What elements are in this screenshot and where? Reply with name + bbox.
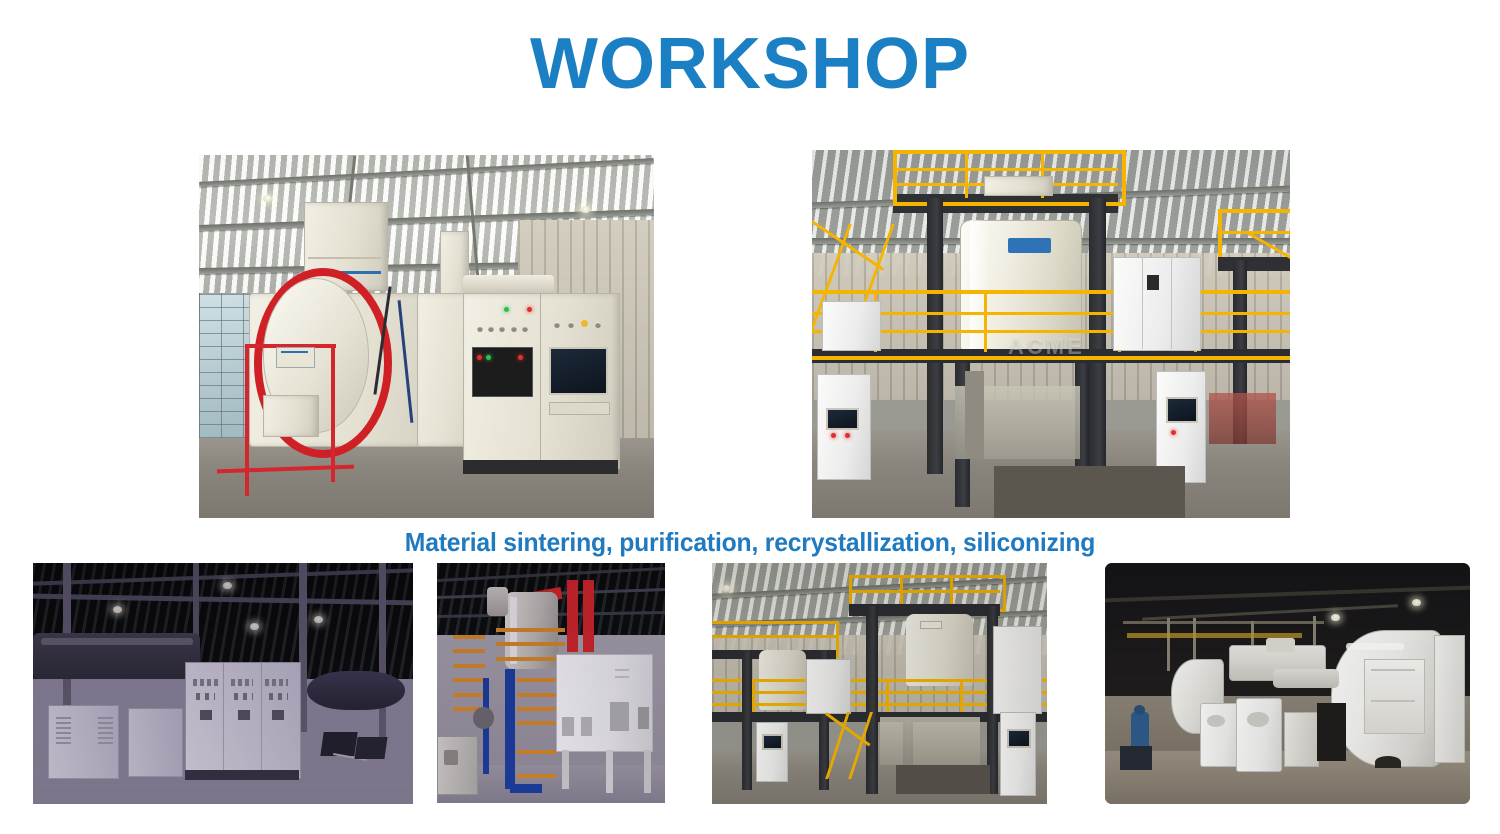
ceiling-lamp-icon: [263, 195, 272, 202]
scene-control-cabinet-hall: [33, 563, 413, 804]
photo-vertical-vacuum-furnace-platform: ACME: [812, 150, 1290, 518]
scene-twin-vertical-furnaces: [712, 563, 1047, 804]
scene-horizontal-furnace: [199, 155, 654, 518]
workshop-page: WORKSHOP: [0, 0, 1500, 834]
photo-large-white-vacuum-furnaces: [1105, 563, 1470, 804]
scene-white-vacuum-furnaces: [1105, 563, 1470, 804]
photo-vertical-sintering-furnace-busbars: [437, 563, 665, 803]
photo-twin-vertical-furnaces-mezzanine: [712, 563, 1047, 804]
photo-control-cabinet-row-dark-hall: [33, 563, 413, 804]
ceiling-lamp-icon: [581, 206, 590, 213]
scene-sintering-furnace-busbars: [437, 563, 665, 803]
page-title: WORKSHOP: [0, 28, 1500, 100]
photo-horizontal-vacuum-furnace-workshop: [199, 155, 654, 518]
safety-railing: [812, 290, 1290, 361]
scene-vertical-furnace: ACME: [812, 150, 1290, 518]
gallery-caption: Material sintering, purification, recrys…: [38, 528, 1463, 557]
hmi-screen: [549, 347, 608, 395]
